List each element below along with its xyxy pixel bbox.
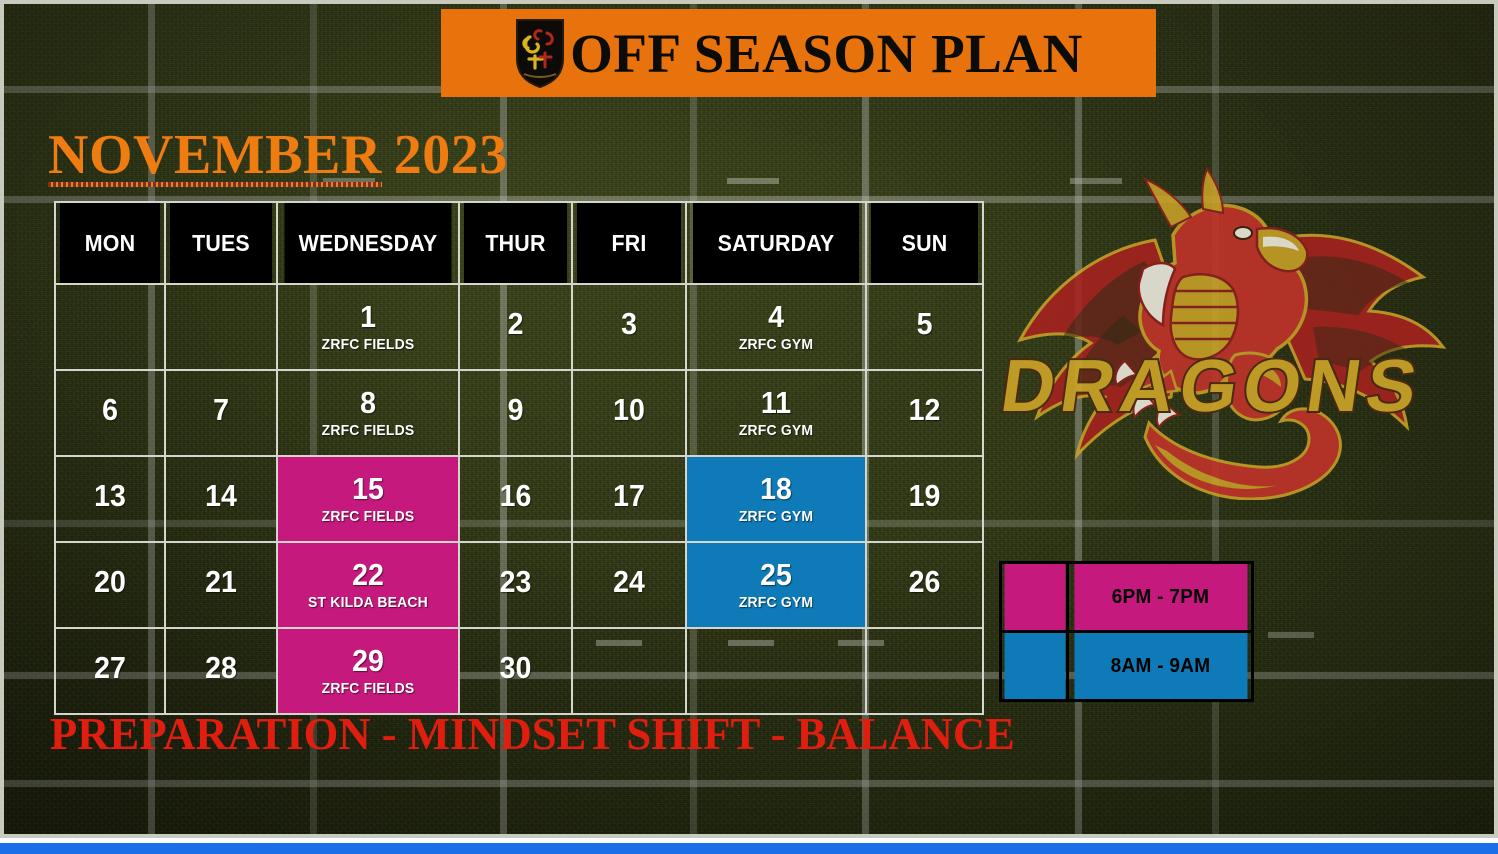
column-header-fri: FRI xyxy=(576,202,682,284)
calendar-day-cell: 22ST KILDA BEACH xyxy=(277,542,459,628)
column-header-mon: MON xyxy=(59,202,161,284)
day-number: 28 xyxy=(170,652,271,685)
calendar-empty-cell xyxy=(686,628,866,714)
day-number: 30 xyxy=(464,652,566,685)
calendar-day-cell: 6 xyxy=(55,370,165,456)
day-number: 17 xyxy=(577,480,680,513)
day-number: 23 xyxy=(464,566,566,599)
bottom-chrome xyxy=(0,838,1498,854)
day-session-note: ZRFC GYM xyxy=(693,594,859,611)
day-number: 3 xyxy=(577,308,680,341)
day-number: 13 xyxy=(60,480,159,513)
tagline: PREPARATION - MINDSET SHIFT - BALANCE xyxy=(50,707,1015,760)
column-header-thur: THUR xyxy=(463,202,568,284)
day-session-note: ZRFC FIELDS xyxy=(284,508,451,525)
calendar-day-cell: 14 xyxy=(165,456,277,542)
calendar-empty-cell xyxy=(55,284,165,370)
day-number: 4 xyxy=(694,301,858,334)
calendar-week-row: 678ZRFC FIELDS91011ZRFC GYM12 xyxy=(55,370,983,456)
legend-row-morning: 8AM - 9AM xyxy=(1001,632,1253,701)
calendar-day-cell: 23 xyxy=(459,542,572,628)
calendar-day-cell: 10 xyxy=(572,370,686,456)
day-number: 15 xyxy=(285,473,451,506)
calendar-day-cell: 15ZRFC FIELDS xyxy=(277,456,459,542)
legend-table: 6PM - 7PM 8AM - 9AM xyxy=(999,561,1254,702)
slide-canvas: DRAGONS xyxy=(0,0,1498,854)
calendar-day-cell: 19 xyxy=(866,456,983,542)
calendar-day-cell: 27 xyxy=(55,628,165,714)
calendar-day-cell: 4ZRFC GYM xyxy=(686,284,866,370)
calendar-day-cell: 21 xyxy=(165,542,277,628)
day-session-note: ZRFC GYM xyxy=(693,336,859,353)
calendar-day-cell: 7 xyxy=(165,370,277,456)
header-banner: OFF SEASON PLAN xyxy=(441,9,1156,97)
calendar-day-cell: 25ZRFC GYM xyxy=(686,542,866,628)
calendar-day-cell: 9 xyxy=(459,370,572,456)
month-year: 2023 xyxy=(394,126,508,185)
month-heading: NOVEMBER2023 xyxy=(48,126,508,185)
day-session-note: ZRFC FIELDS xyxy=(284,680,451,697)
day-number: 16 xyxy=(464,480,566,513)
calendar-day-cell: 12 xyxy=(866,370,983,456)
day-number: 24 xyxy=(577,566,680,599)
calendar-day-cell: 3 xyxy=(572,284,686,370)
month-name: NOVEMBER xyxy=(48,126,382,185)
calendar-empty-cell xyxy=(165,284,277,370)
legend-label-evening: 6PM - 7PM xyxy=(1072,563,1248,632)
calendar-week-row: 131415ZRFC FIELDS161718ZRFC GYM19 xyxy=(55,456,983,542)
day-number: 2 xyxy=(464,308,566,341)
day-number: 21 xyxy=(170,566,271,599)
day-number: 20 xyxy=(60,566,159,599)
calendar-day-cell: 11ZRFC GYM xyxy=(686,370,866,456)
day-number: 10 xyxy=(577,394,680,427)
day-number: 11 xyxy=(694,387,858,420)
column-header-sun: SUN xyxy=(870,202,979,284)
day-session-note: ZRFC GYM xyxy=(693,508,859,525)
day-session-note: ST KILDA BEACH xyxy=(284,594,451,611)
column-header-wednesday: WEDNESDAY xyxy=(283,202,452,284)
day-number: 5 xyxy=(872,308,978,341)
calendar-day-cell: 16 xyxy=(459,456,572,542)
calendar-week-row: 202122ST KILDA BEACH232425ZRFC GYM26 xyxy=(55,542,983,628)
calendar-empty-cell xyxy=(866,628,983,714)
calendar-body: 1ZRFC FIELDS234ZRFC GYM5678ZRFC FIELDS91… xyxy=(55,284,983,714)
calendar-day-cell: 18ZRFC GYM xyxy=(686,456,866,542)
legend-label-morning: 8AM - 9AM xyxy=(1072,632,1248,701)
day-session-note: ZRFC FIELDS xyxy=(284,336,451,353)
legend-swatch-blue xyxy=(1002,632,1066,701)
calendar-day-cell: 24 xyxy=(572,542,686,628)
day-number: 7 xyxy=(170,394,271,427)
svg-text:DRAGONS: DRAGONS xyxy=(996,344,1428,427)
day-session-note: ZRFC GYM xyxy=(693,422,859,439)
day-number: 25 xyxy=(694,559,858,592)
calendar-day-cell: 20 xyxy=(55,542,165,628)
day-number: 14 xyxy=(170,480,271,513)
day-number: 19 xyxy=(872,480,978,513)
column-header-saturday: SATURDAY xyxy=(692,202,859,284)
calendar-empty-cell xyxy=(572,628,686,714)
calendar-week-row: 1ZRFC FIELDS234ZRFC GYM5 xyxy=(55,284,983,370)
calendar-header-row: MON TUES WEDNESDAY THUR FRI SATURDAY SUN xyxy=(55,202,983,284)
calendar-day-cell: 29ZRFC FIELDS xyxy=(277,628,459,714)
calendar-day-cell: 8ZRFC FIELDS xyxy=(277,370,459,456)
day-number: 12 xyxy=(872,394,978,427)
zrfc-crest-icon xyxy=(514,17,566,89)
calendar-day-cell: 26 xyxy=(866,542,983,628)
day-number: 26 xyxy=(872,566,978,599)
day-number: 8 xyxy=(285,387,451,420)
day-number: 18 xyxy=(694,473,858,506)
calendar-table: MON TUES WEDNESDAY THUR FRI SATURDAY SUN… xyxy=(54,201,984,715)
legend-row-evening: 6PM - 7PM xyxy=(1001,563,1253,632)
column-header-tues: TUES xyxy=(169,202,273,284)
calendar-day-cell: 13 xyxy=(55,456,165,542)
calendar-day-cell: 5 xyxy=(866,284,983,370)
legend-swatch-pink xyxy=(1002,563,1066,632)
calendar-day-cell: 1ZRFC FIELDS xyxy=(277,284,459,370)
page-title: OFF SEASON PLAN xyxy=(570,26,1083,81)
day-number: 6 xyxy=(60,394,159,427)
day-number: 27 xyxy=(60,652,159,685)
day-number: 1 xyxy=(285,301,451,334)
day-number: 9 xyxy=(464,394,566,427)
calendar-day-cell: 2 xyxy=(459,284,572,370)
day-number: 22 xyxy=(285,559,451,592)
calendar-day-cell: 17 xyxy=(572,456,686,542)
day-number: 29 xyxy=(285,645,451,678)
calendar-day-cell: 28 xyxy=(165,628,277,714)
calendar-day-cell: 30 xyxy=(459,628,572,714)
day-session-note: ZRFC FIELDS xyxy=(284,422,451,439)
calendar-week-row: 272829ZRFC FIELDS30 xyxy=(55,628,983,714)
bottom-progress-bar xyxy=(0,843,1498,854)
dragon-logo-icon: DRAGONS xyxy=(995,165,1450,500)
